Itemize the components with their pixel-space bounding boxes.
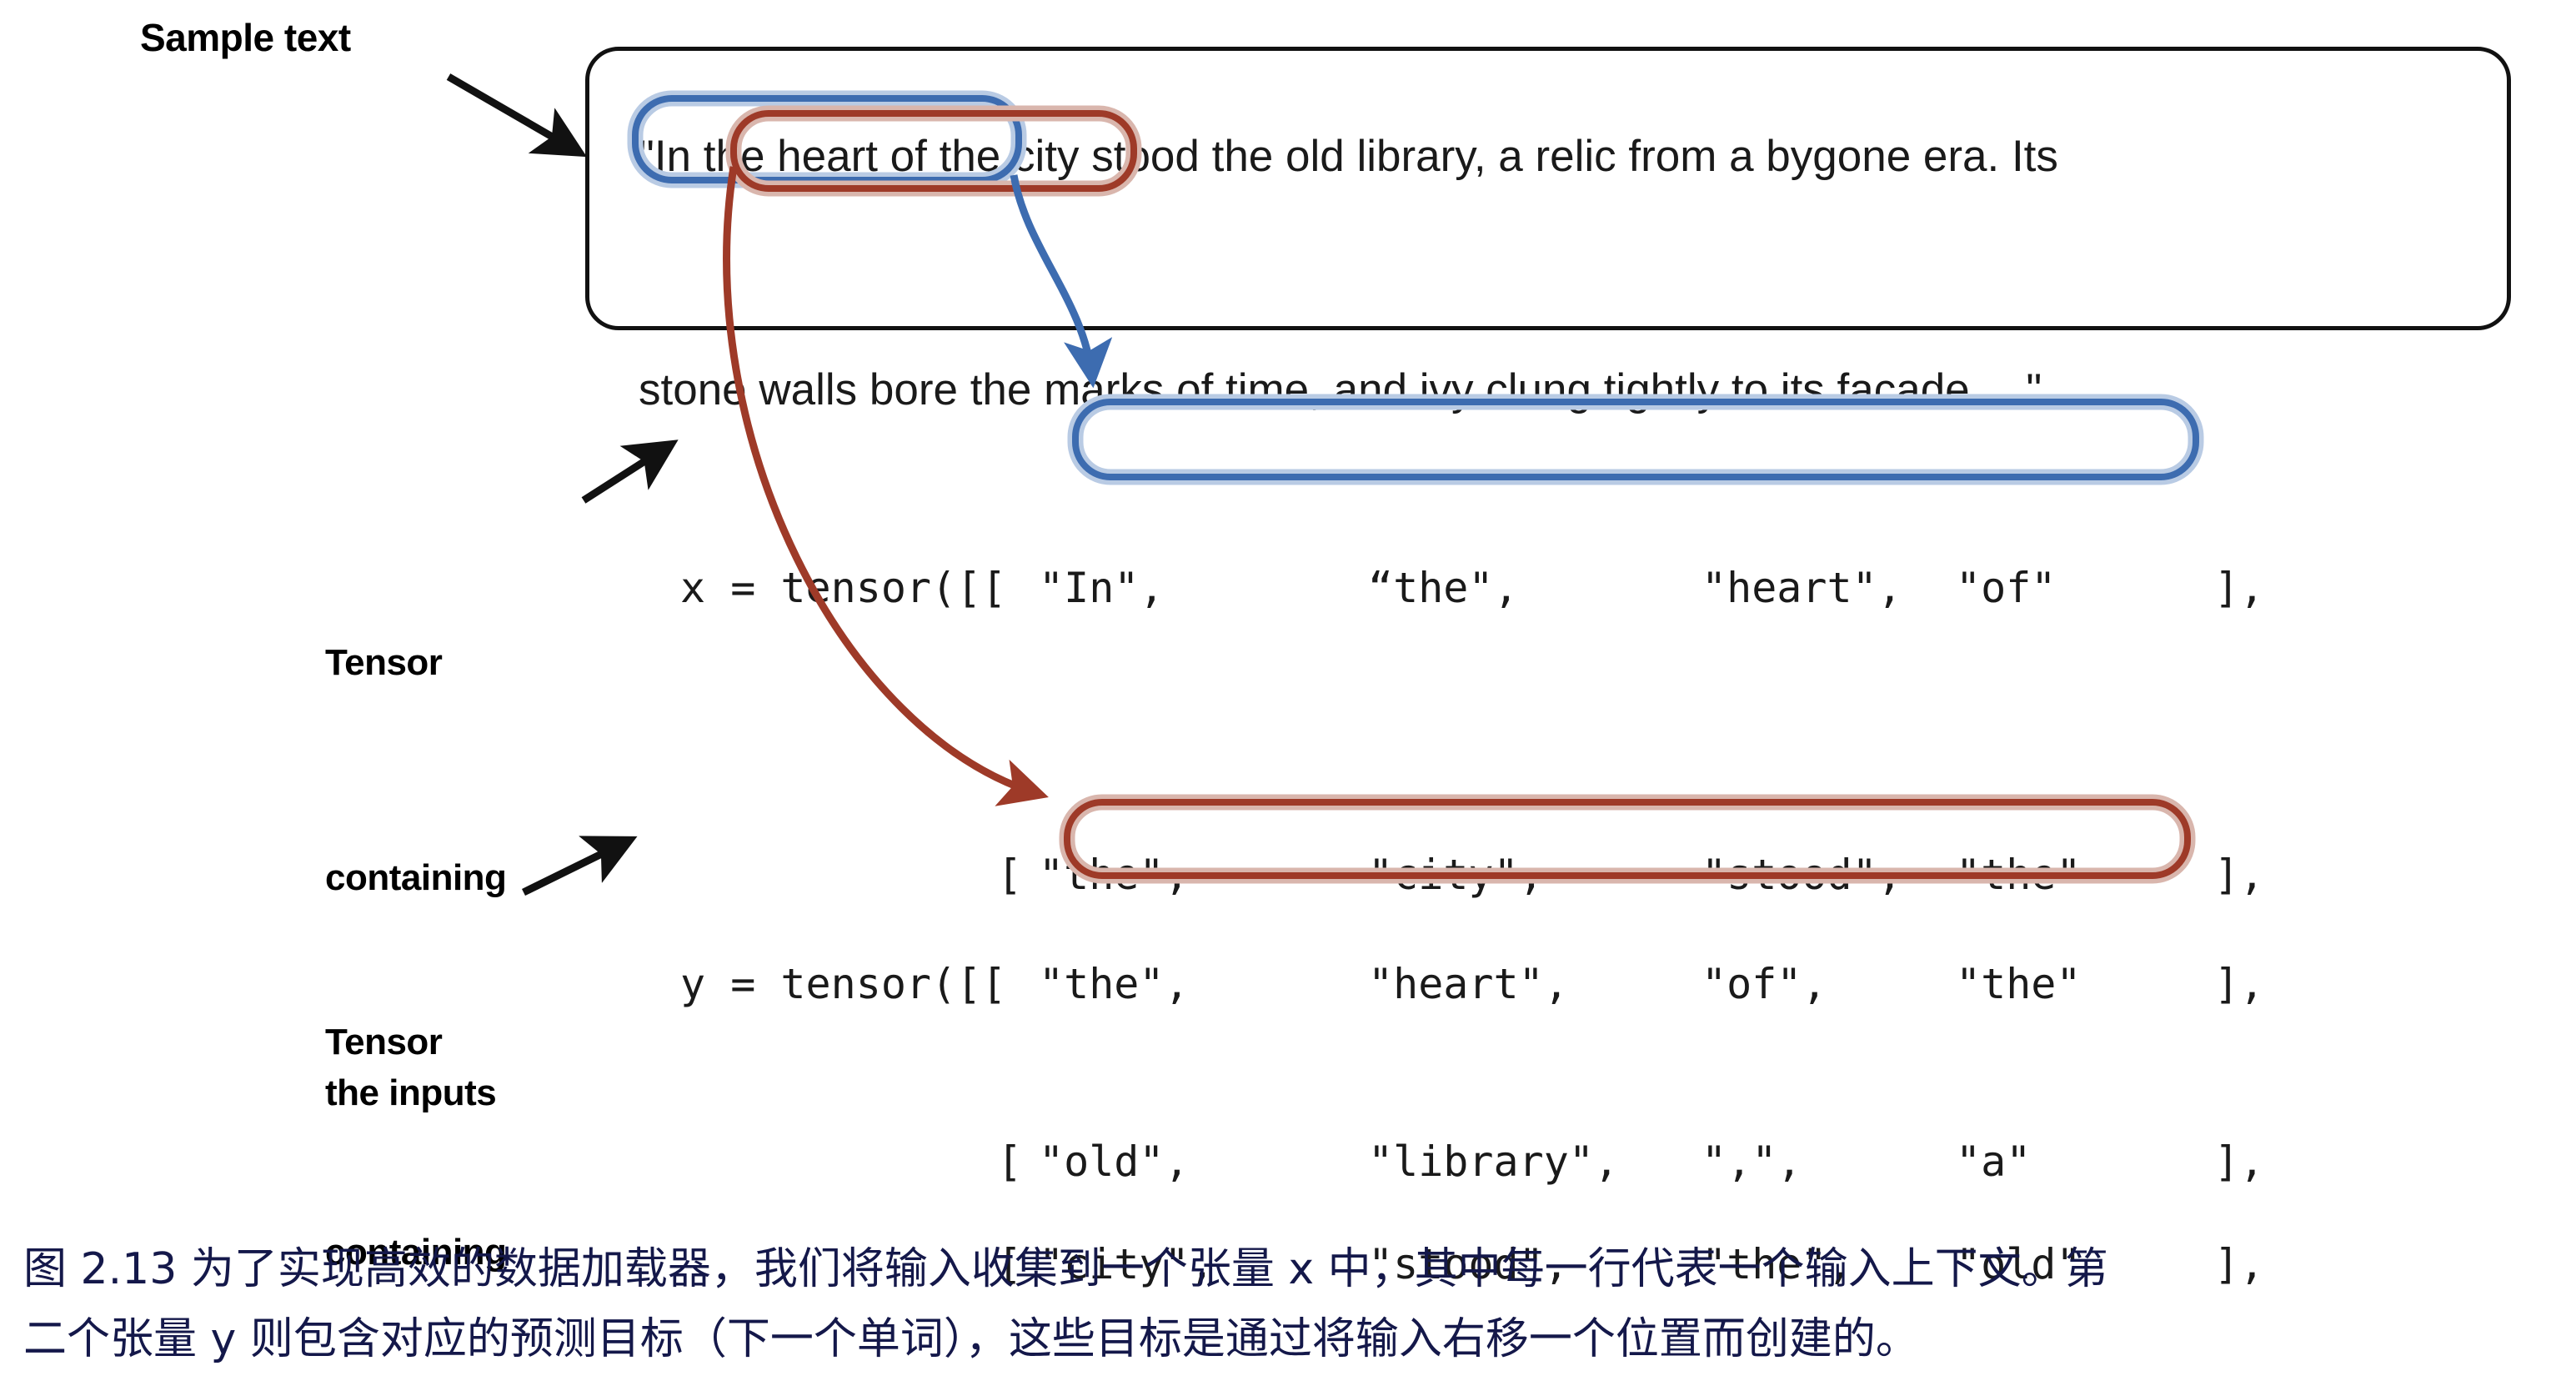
tensor-close: ], <box>2214 552 2264 624</box>
callout-line: Tensor <box>325 1007 508 1077</box>
tensor-cell: “the", <box>1368 552 1701 624</box>
caption-line-2: 二个张量 y 则包含对应的预测目标（下一个单词），这些目标是通过将输入右移一个位… <box>23 1304 2541 1374</box>
tensor-cell: "heart", <box>1701 552 1956 624</box>
tensor-row: x = tensor([["In",“the","heart","of"], <box>680 552 2289 624</box>
tensor-prefix: x = tensor([[ <box>680 552 1039 624</box>
tensor-cell: "of" <box>1956 552 2214 624</box>
arrow-tensor-inputs <box>584 447 667 500</box>
sample-text-line-2: stone walls bore the marks of time, and … <box>639 365 2042 414</box>
tensor-cell: "of", <box>1701 949 1956 1019</box>
callout-sample-text: Sample text <box>140 15 351 60</box>
figure-caption: 图 2.13 为了实现高效的数据加载器，我们将输入收集到一个张量 x 中，其中每… <box>23 1234 2541 1374</box>
tensor-prefix: y = tensor([[ <box>680 949 1039 1019</box>
tensor-cell: "In", <box>1039 552 1368 624</box>
sample-text-content: "In the heart of the city stood the old … <box>639 98 2498 449</box>
tensor-row: y = tensor([["the","heart","of","the"], <box>680 949 2289 1019</box>
sample-text-line-1: "In the heart of the city stood the old … <box>639 132 2058 181</box>
figure-canvas: "In the heart of the city stood the old … <box>0 0 2576 1391</box>
tensor-close: ], <box>2214 949 2264 1019</box>
arrow-sample-text <box>449 77 575 150</box>
callout-line: Tensor <box>325 627 506 699</box>
arrow-tensor-targets <box>524 842 625 892</box>
tensor-cell: "the", <box>1039 949 1368 1019</box>
caption-line-1: 图 2.13 为了实现高效的数据加载器，我们将输入收集到一个张量 x 中，其中每… <box>23 1234 2541 1304</box>
tensor-cell: "heart", <box>1368 949 1701 1019</box>
tensor-cell: "the" <box>1956 949 2214 1019</box>
